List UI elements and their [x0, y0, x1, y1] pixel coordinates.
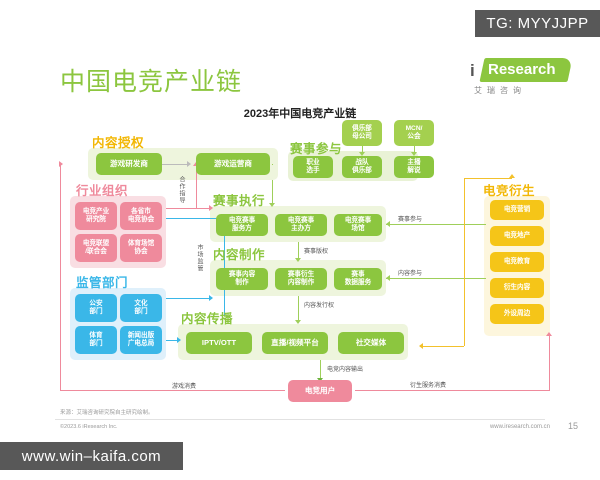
logo-subtitle: 艾瑞咨询 — [474, 85, 526, 96]
arrow-copyright-down — [295, 258, 301, 262]
line-derivative-consumption-up — [549, 336, 550, 390]
logo-i-letter: i — [470, 61, 475, 81]
diagram-canvas: 合作指导 市场监管 赛事版权 内容发行权 赛事参与 内容参与 — [0, 118, 600, 403]
flow-label-derivative-consumption: 衍生服务消费 — [410, 380, 446, 389]
node-iptv-ott[interactable]: IPTV/OTT — [186, 332, 252, 354]
node-pro-player[interactable]: 职业选手 — [293, 156, 333, 178]
node-event-organizer[interactable]: 电竞赛事主办方 — [275, 214, 327, 236]
node-game-developer[interactable]: 游戏研发商 — [96, 153, 162, 175]
page-number: 15 — [568, 421, 578, 431]
arrow-rights-down — [295, 320, 301, 324]
arrow-derivative-consumption-up — [546, 332, 552, 336]
watermark-telegram: TG: MYYJJPP — [475, 10, 600, 37]
node-team-club[interactable]: 战队俱乐部 — [342, 156, 382, 178]
line-derivative-top — [464, 178, 512, 179]
node-mcn-guild[interactable]: MCN/公会 — [394, 120, 434, 146]
flow-label-game-consumption: 游戏消费 — [172, 381, 196, 390]
node-derivative-content[interactable]: 衍生内容 — [490, 278, 544, 298]
line-rights-down — [298, 296, 299, 322]
line-derivative-bottom — [420, 346, 464, 347]
node-live-video-platform[interactable]: 直播/视频平台 — [262, 332, 328, 354]
group-label-industry-org: 行业组织 — [76, 180, 128, 199]
node-event-service-provider[interactable]: 电竞赛事服务方 — [216, 214, 268, 236]
line-event-participation-right — [386, 224, 486, 225]
line-regulation-h2 — [166, 298, 212, 299]
page-title: 中国电竞产业链 — [60, 62, 242, 98]
group-label-content-production: 内容制作 — [213, 244, 265, 263]
node-streamer-caster[interactable]: 主播解说 — [394, 156, 434, 178]
line-participation-down — [272, 180, 273, 204]
flow-label-event-copyright: 赛事版权 — [304, 246, 328, 255]
node-game-operator[interactable]: 游戏运营商 — [196, 153, 270, 175]
node-social-media[interactable]: 社交媒体 — [338, 332, 404, 354]
arrow-participation-down — [269, 203, 275, 207]
node-esports-marketing[interactable]: 电竞营销 — [490, 200, 544, 220]
node-press-radio-admin[interactable]: 新闻出版广电总局 — [120, 326, 162, 354]
node-event-venue[interactable]: 电竞赛事场馆 — [334, 214, 382, 236]
node-culture-dept[interactable]: 文化部门 — [120, 294, 162, 322]
line-dev-to-operator — [162, 164, 188, 165]
flow-label-content-output: 电竞内容输出 — [327, 364, 363, 373]
arrow-content-participation-left — [386, 275, 390, 281]
group-label-content-license: 内容授权 — [92, 132, 144, 151]
node-esports-research-institute[interactable]: 电竞产业研究院 — [75, 202, 117, 230]
footer-website: www.iresearch.com.cn — [490, 424, 550, 430]
slide: TG: MYYJJPP www.win–kaifa.com 中国电竞产业链 i … — [0, 0, 600, 480]
node-derivative-content-production[interactable]: 赛事衍生内容制作 — [275, 268, 327, 290]
node-event-data-service[interactable]: 赛事数据服务 — [334, 268, 382, 290]
node-peripherals[interactable]: 外设周边 — [490, 304, 544, 324]
line-game-consumption-up — [60, 164, 61, 390]
line-content-participation-right — [386, 278, 486, 279]
node-club-parent-company[interactable]: 俱乐部母公司 — [342, 120, 382, 146]
arrow-derivative-bottom-left — [419, 343, 423, 349]
group-label-regulator: 监管部门 — [76, 272, 128, 291]
line-distribution-users — [320, 360, 321, 380]
flow-label-cooperation: 合作指导 — [178, 176, 184, 204]
line-derivative-vertical — [464, 178, 465, 346]
node-esports-education[interactable]: 电竞教育 — [490, 252, 544, 272]
logo-research-text: Research — [488, 61, 556, 78]
flow-label-market-regulation: 市场监管 — [196, 244, 202, 272]
line-coop-horizontal — [166, 208, 210, 209]
group-label-content-distribution: 内容传播 — [181, 308, 233, 327]
line-operator-down — [272, 164, 273, 165]
node-event-content-production[interactable]: 赛事内容制作 — [216, 268, 268, 290]
arrow-regulation-2 — [209, 295, 213, 301]
node-esports-users[interactable]: 电竞用户 — [288, 380, 352, 402]
line-derivative-consumption — [355, 390, 550, 391]
line-game-consumption — [60, 390, 285, 391]
group-label-derivative: 电竞衍生 — [483, 180, 535, 199]
flow-label-content-participation: 内容参与 — [398, 268, 422, 277]
watermark-site: www.win–kaifa.com — [0, 442, 183, 470]
node-provincial-associations[interactable]: 各省市电竞协会 — [120, 202, 162, 230]
source-note: 来源：艾瑞咨询研究院自主研究绘制。 — [60, 408, 154, 416]
arrow-game-consumption — [59, 161, 63, 167]
group-label-event-participation: 赛事参与 — [290, 138, 342, 157]
iresearch-logo: i Research 艾瑞咨询 — [460, 58, 570, 100]
node-public-security-dept[interactable]: 公安部门 — [75, 294, 117, 322]
arrow-dev-to-operator — [187, 161, 191, 167]
arrow-event-participation-left — [386, 221, 390, 227]
node-stadium-association[interactable]: 体育场馆协会 — [120, 234, 162, 262]
footer-divider — [55, 419, 545, 420]
node-esports-real-estate[interactable]: 电竞地产 — [490, 226, 544, 246]
flow-label-content-rights: 内容发行权 — [304, 300, 334, 309]
node-sports-dept[interactable]: 体育部门 — [75, 326, 117, 354]
copyright-note: ©2023.6 iResearch Inc. — [60, 424, 118, 430]
flow-label-event-participation: 赛事参与 — [398, 214, 422, 223]
arrow-regulation-3 — [177, 337, 181, 343]
logo-mark: i Research — [460, 58, 570, 83]
group-label-event-execution: 赛事执行 — [213, 190, 265, 209]
arrow-derivative-up — [509, 174, 515, 178]
node-esports-alliance[interactable]: 电竞联盟/联合会 — [75, 234, 117, 262]
